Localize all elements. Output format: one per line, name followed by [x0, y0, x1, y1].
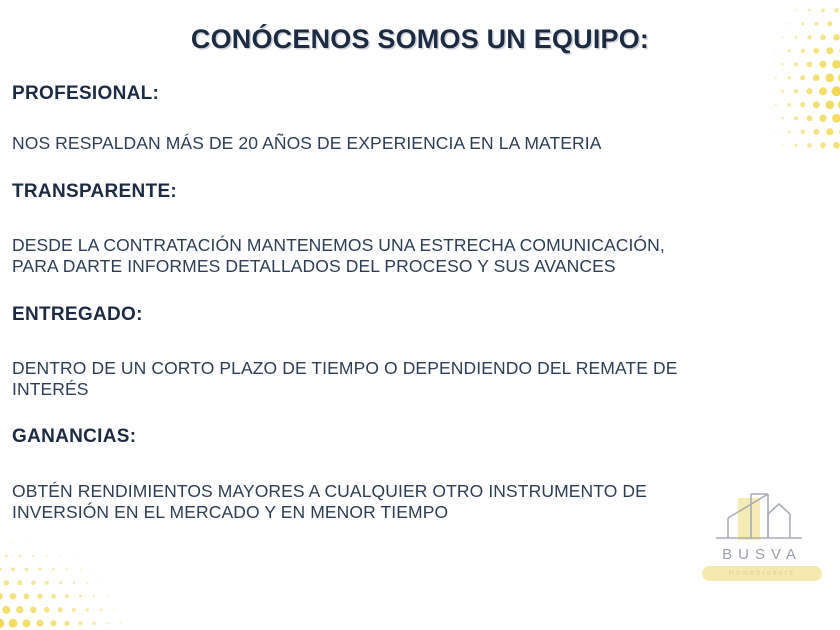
section-heading: ENTREGADO:: [12, 305, 824, 324]
slide-canvas: CONÓCENOS SOMOS UN EQUIPO: PROFESIONAL: …: [0, 0, 840, 630]
paragraph-line: INTERÉS: [12, 379, 824, 399]
paragraph-line: DENTRO DE UN CORTO PLAZO DE TIEMPO O DEP…: [12, 358, 824, 378]
section-paragraph: DENTRO DE UN CORTO PLAZO DE TIEMPO O DEP…: [12, 358, 824, 399]
logo-wordmark: BUSVA: [698, 546, 826, 563]
section-entregado: ENTREGADO: DENTRO DE UN CORTO PLAZO DE T…: [12, 305, 824, 399]
section-profesional: PROFESIONAL: NOS RESPALDAN MÁS DE 20 AÑO…: [12, 84, 824, 153]
section-paragraph: DESDE LA CONTRATACIÓN MANTENEMOS UNA EST…: [12, 235, 824, 276]
building-outline-icon: [698, 492, 826, 548]
section-heading: PROFESIONAL:: [12, 84, 824, 103]
section-heading: TRANSPARENTE:: [12, 182, 824, 201]
section-transparente: TRANSPARENTE: DESDE LA CONTRATACIÓN MANT…: [12, 182, 824, 276]
paragraph-line: DESDE LA CONTRATACIÓN MANTENEMOS UNA EST…: [12, 235, 824, 255]
paragraph-line: NOS RESPALDAN MÁS DE 20 AÑOS DE EXPERIEN…: [12, 133, 824, 153]
paragraph-line: PARA DARTE INFORMES DETALLADOS DEL PROCE…: [12, 256, 824, 276]
brand-logo: BUSVA Homebrokers: [698, 492, 826, 587]
page-title: CONÓCENOS SOMOS UN EQUIPO:: [0, 24, 840, 55]
section-heading: GANANCIAS:: [12, 427, 824, 446]
halftone-dots-icon: [0, 522, 216, 630]
content-body: PROFESIONAL: NOS RESPALDAN MÁS DE 20 AÑO…: [12, 84, 824, 522]
logo-tagline-band: Homebrokers: [702, 566, 822, 581]
section-paragraph: NOS RESPALDAN MÁS DE 20 AÑOS DE EXPERIEN…: [12, 133, 824, 153]
logo-tagline: Homebrokers: [702, 566, 822, 581]
